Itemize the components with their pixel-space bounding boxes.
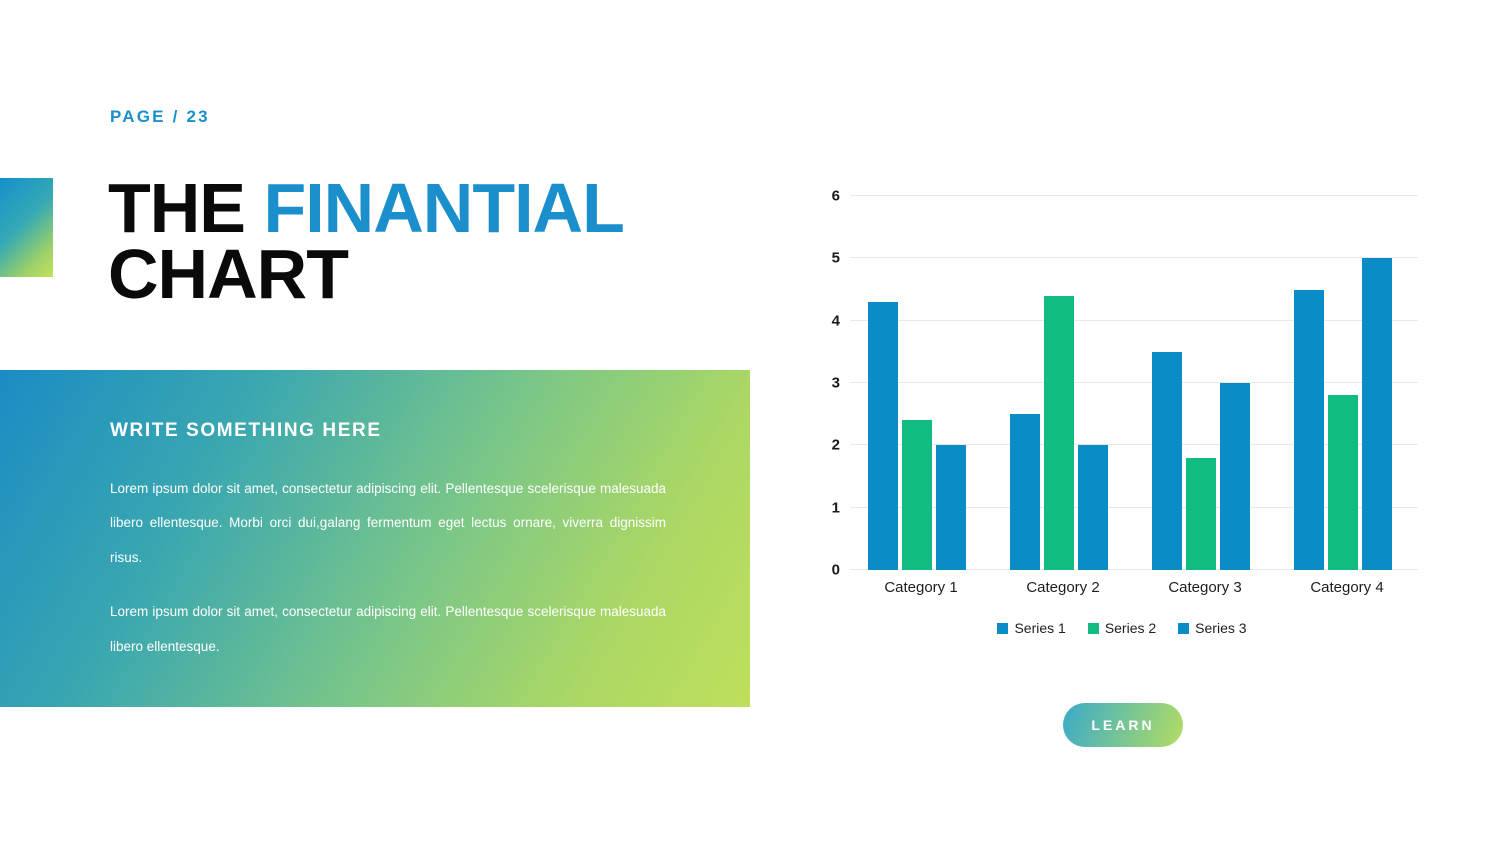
chart-bar xyxy=(868,302,898,570)
financial-bar-chart: 0123456Category 1Category 2Category 3Cat… xyxy=(812,180,1432,600)
chart-bar xyxy=(1078,445,1108,570)
accent-gradient-square xyxy=(0,178,53,277)
legend-item[interactable]: Series 3 xyxy=(1178,620,1246,636)
legend-swatch-icon xyxy=(997,623,1008,634)
x-axis-category-label: Category 2 xyxy=(992,579,1134,596)
y-axis-tick-label: 1 xyxy=(832,499,840,516)
chart-legend: Series 1Series 2Series 3 xyxy=(812,620,1432,636)
page-title: THE FINANTIAL CHART xyxy=(108,176,708,308)
chart-bar xyxy=(1010,414,1040,570)
chart-bar xyxy=(936,445,966,570)
panel-paragraph-1: Lorem ipsum dolor sit amet, consectetur … xyxy=(110,472,666,575)
legend-label: Series 3 xyxy=(1195,620,1246,636)
chart-plot-area: 0123456Category 1Category 2Category 3Cat… xyxy=(850,196,1418,570)
chart-bar xyxy=(1152,352,1182,570)
legend-swatch-icon xyxy=(1088,623,1099,634)
chart-bar xyxy=(1362,258,1392,570)
legend-label: Series 2 xyxy=(1105,620,1156,636)
slide: PAGE / 23 THE FINANTIAL CHART WRITE SOME… xyxy=(0,0,1500,844)
y-axis-tick-label: 2 xyxy=(832,437,840,454)
panel-heading: WRITE SOMETHING HERE xyxy=(110,420,666,442)
description-panel: WRITE SOMETHING HERE Lorem ipsum dolor s… xyxy=(0,370,750,707)
chart-bar xyxy=(1186,458,1216,570)
chart-category-group: Category 3 xyxy=(1134,196,1276,570)
chart-bar xyxy=(902,420,932,570)
panel-paragraph-2: Lorem ipsum dolor sit amet, consectetur … xyxy=(110,595,666,664)
chart-bar xyxy=(1044,296,1074,570)
y-axis-tick-label: 6 xyxy=(832,188,840,205)
learn-button[interactable]: LEARN xyxy=(1063,703,1183,747)
chart-category-group: Category 4 xyxy=(1276,196,1418,570)
legend-item[interactable]: Series 1 xyxy=(997,620,1065,636)
chart-category-group: Category 1 xyxy=(850,196,992,570)
chart-bar xyxy=(1220,383,1250,570)
y-axis-tick-label: 3 xyxy=(832,375,840,392)
legend-swatch-icon xyxy=(1178,623,1189,634)
page-label: PAGE / 23 xyxy=(110,107,210,127)
title-line2: CHART xyxy=(108,242,708,308)
y-axis-tick-label: 5 xyxy=(832,250,840,267)
y-axis-tick-label: 4 xyxy=(832,312,840,329)
x-axis-category-label: Category 3 xyxy=(1134,579,1276,596)
legend-item[interactable]: Series 2 xyxy=(1088,620,1156,636)
y-axis-tick-label: 0 xyxy=(832,562,840,579)
chart-category-group: Category 2 xyxy=(992,196,1134,570)
chart-bar xyxy=(1294,290,1324,571)
x-axis-category-label: Category 4 xyxy=(1276,579,1418,596)
legend-label: Series 1 xyxy=(1014,620,1065,636)
x-axis-category-label: Category 1 xyxy=(850,579,992,596)
chart-bar xyxy=(1328,395,1358,570)
